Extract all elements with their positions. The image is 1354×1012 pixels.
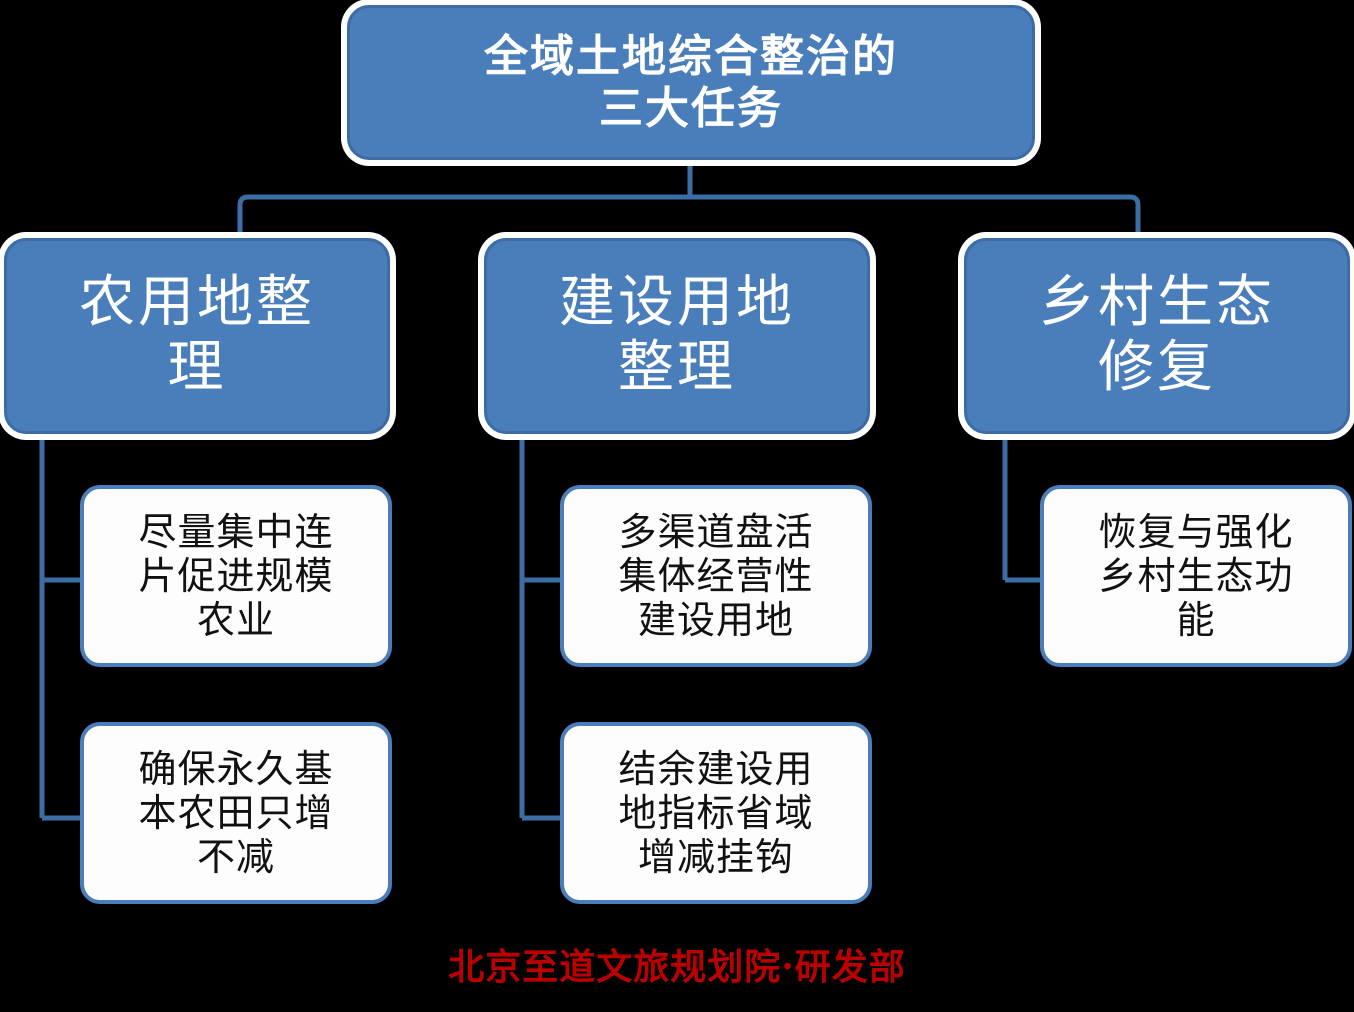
- node-branch-construction-land[interactable]: 建设用地 整理: [484, 238, 870, 434]
- diagram-canvas: 全域土地综合整治的 三大任务 农用地整 理 建设用地 整理 乡村生态 修复 尽量…: [0, 0, 1354, 1012]
- node-leaf-2-1-label: 多渠道盘活 集体经营性 建设用地: [564, 510, 868, 642]
- node-branch-2-label: 建设用地 整理: [487, 271, 867, 401]
- node-branch-rural-ecology[interactable]: 乡村生态 修复: [964, 238, 1350, 434]
- node-leaf-permanent-farmland[interactable]: 确保永久基 本农田只增 不减: [80, 722, 392, 904]
- node-leaf-collective-operating-land[interactable]: 多渠道盘活 集体经营性 建设用地: [560, 485, 872, 667]
- node-leaf-1-1-label: 尽量集中连 片促进规模 农业: [84, 510, 388, 642]
- node-leaf-3-1-label: 恢复与强化 乡村生态功 能: [1044, 510, 1348, 642]
- node-branch-3-label: 乡村生态 修复: [967, 271, 1347, 401]
- node-leaf-restore-eco-function[interactable]: 恢复与强化 乡村生态功 能: [1040, 485, 1352, 667]
- node-branch-agricultural-land[interactable]: 农用地整 理: [4, 238, 390, 434]
- node-root-label: 全域土地综合整治的 三大任务: [350, 31, 1032, 133]
- node-leaf-surplus-quota-linkage[interactable]: 结余建设用 地指标省域 增减挂钩: [560, 722, 872, 904]
- node-leaf-2-2-label: 结余建设用 地指标省域 增减挂钩: [564, 747, 868, 879]
- node-leaf-1-2-label: 确保永久基 本农田只增 不减: [84, 747, 388, 879]
- footer-credit: 北京至道文旅规划院·研发部: [0, 938, 1354, 990]
- node-root[interactable]: 全域土地综合整治的 三大任务: [347, 5, 1035, 160]
- node-leaf-scale-agriculture[interactable]: 尽量集中连 片促进规模 农业: [80, 485, 392, 667]
- connector-root-bar: [240, 197, 1138, 235]
- node-branch-1-label: 农用地整 理: [7, 271, 387, 401]
